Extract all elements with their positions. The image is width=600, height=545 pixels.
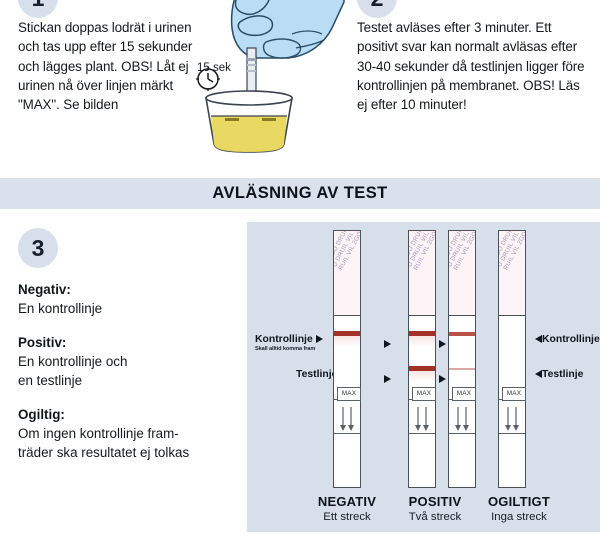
fill-arrows-icon — [414, 407, 430, 433]
strip-pad-negativ: 2GOU DRUIL VIL 2GOU DRUIL VIL 2GOU DRUIL… — [334, 231, 360, 316]
arrow-control-strip2 — [384, 335, 391, 353]
caption-positiv-main: POSITIV — [391, 494, 479, 509]
result-negativ: Negativ: En kontrollinje — [18, 280, 243, 318]
step-1-number: 1 — [18, 0, 58, 18]
pad-text: 2GOU DRUIL VIL 2GOU DRUIL VIL 2GOU DRUIL… — [409, 231, 435, 272]
result-negativ-body: En kontrollinje — [18, 299, 243, 318]
caption-ogiltigt-main: OGILTIGT — [473, 494, 565, 509]
strip-ogiltigt: 2GOU DRUIL VIL 2GOU DRUIL VIL 2GOU DRUIL… — [498, 230, 526, 488]
control-line-positiv-b — [449, 332, 475, 336]
test-line-positiv-b — [449, 368, 475, 370]
timer-label: 15 sek — [197, 62, 231, 74]
max-label-ogiltigt: MAX — [502, 387, 526, 401]
triangle-left-icon — [535, 335, 542, 343]
arrow-test-strip3 — [439, 370, 446, 388]
results-legend: Negativ: En kontrollinje Positiv: En kon… — [18, 280, 243, 477]
strip-pad-positiv-a: 2GOU DRUIL VIL 2GOU DRUIL VIL 2GOU DRUIL… — [409, 231, 435, 316]
top-steps-section: 1 Stickan doppas lodrät i urinen och tas… — [0, 0, 600, 176]
pad-text: 2GOU DRUIL VIL 2GOU DRUIL VIL 2GOU DRUIL… — [499, 231, 525, 272]
urine-cup-icon — [206, 91, 292, 152]
result-positiv-body: En kontrollinje och en testlinje — [18, 352, 243, 390]
result-positiv: Positiv: En kontrollinje och en testlinj… — [18, 333, 243, 390]
strip-negativ: 2GOU DRUIL VIL 2GOU DRUIL VIL 2GOU DRUIL… — [333, 230, 361, 488]
result-ogiltig: Ogiltig: Om ingen kontrollinje fram- trä… — [18, 405, 243, 462]
test-line-positiv-a — [409, 366, 435, 371]
strip-positiv-b: 2GOU DRUIL VIL 2GOU DRUIL VIL 2GOU DRUIL… — [448, 230, 476, 488]
strip-pad-positiv-b: 2GOU DRUIL VIL 2GOU DRUIL VIL 2GOU DRUIL… — [449, 231, 475, 316]
label-left-kontrollinje: Kontrollinje — [255, 334, 323, 345]
control-line-positiv-a — [409, 331, 435, 336]
strip-positiv-a: 2GOU DRUIL VIL 2GOU DRUIL VIL 2GOU DRUIL… — [408, 230, 436, 488]
strip-pad-ogiltigt: 2GOU DRUIL VIL 2GOU DRUIL VIL 2GOU DRUIL… — [499, 231, 525, 316]
strip-diagram-panel: Kontrollinje Skall alltid komma fram Tes… — [247, 222, 600, 532]
step-2-number: 2 — [357, 0, 397, 18]
label-left-kontrollinje-text: Kontrollinje — [255, 334, 313, 345]
pad-text: 2GOU DRUIL VIL 2GOU DRUIL VIL 2GOU DRUIL… — [334, 231, 360, 272]
fill-arrows-icon — [454, 407, 470, 433]
arrow-control-strip3 — [439, 335, 446, 353]
max-label-positiv-b: MAX — [452, 387, 476, 401]
max-label-positiv-a: MAX — [412, 387, 436, 401]
label-right-testlinje-text: Testlinje — [542, 369, 583, 380]
dip-illustration — [192, 0, 350, 166]
caption-ogiltigt-sub: Inga streck — [473, 511, 565, 523]
control-line-negativ — [334, 331, 360, 336]
result-ogiltig-title: Ogiltig: — [18, 405, 243, 424]
caption-positiv: POSITIV Två streck — [391, 494, 479, 523]
caption-negativ-sub: Ett streck — [303, 511, 391, 523]
fill-arrows-icon — [504, 407, 520, 433]
fill-arrows-icon — [339, 407, 355, 433]
label-left-kontrollinje-sub: Skall alltid komma fram — [255, 346, 315, 352]
result-negativ-title: Negativ: — [18, 280, 243, 299]
label-right-kontrollinje-text: Kontrollinje — [542, 334, 600, 345]
arrow-test-strip2 — [384, 370, 391, 388]
banner-title: AVLÄSNING AV TEST — [212, 184, 387, 203]
step-3-number: 3 — [18, 228, 58, 268]
caption-positiv-sub: Två streck — [391, 511, 479, 523]
max-label-negativ: MAX — [337, 387, 361, 401]
caption-ogiltigt: OGILTIGT Inga streck — [473, 494, 565, 523]
result-positiv-title: Positiv: — [18, 333, 243, 352]
result-ogiltig-body: Om ingen kontrollinje fram- träder ska r… — [18, 424, 243, 462]
label-right-kontrollinje: Kontrollinje — [535, 334, 600, 345]
step-2-text: Testet avläses efter 3 minuter. Ett posi… — [357, 18, 593, 114]
step-1-text: Stickan doppas lodrät i urinen och tas u… — [18, 18, 196, 114]
label-right-testlinje: Testlinje — [535, 369, 583, 380]
label-left-testlinje-text: Testlinje — [296, 369, 337, 380]
instruction-sheet: 1 Stickan doppas lodrät i urinen och tas… — [0, 0, 600, 545]
triangle-left-icon — [535, 370, 542, 378]
pad-text: 2GOU DRUIL VIL 2GOU DRUIL VIL 2GOU DRUIL… — [449, 231, 475, 272]
caption-negativ-main: NEGATIV — [303, 494, 391, 509]
section-banner: AVLÄSNING AV TEST — [0, 178, 600, 209]
triangle-right-icon — [316, 335, 323, 343]
caption-negativ: NEGATIV Ett streck — [303, 494, 391, 523]
